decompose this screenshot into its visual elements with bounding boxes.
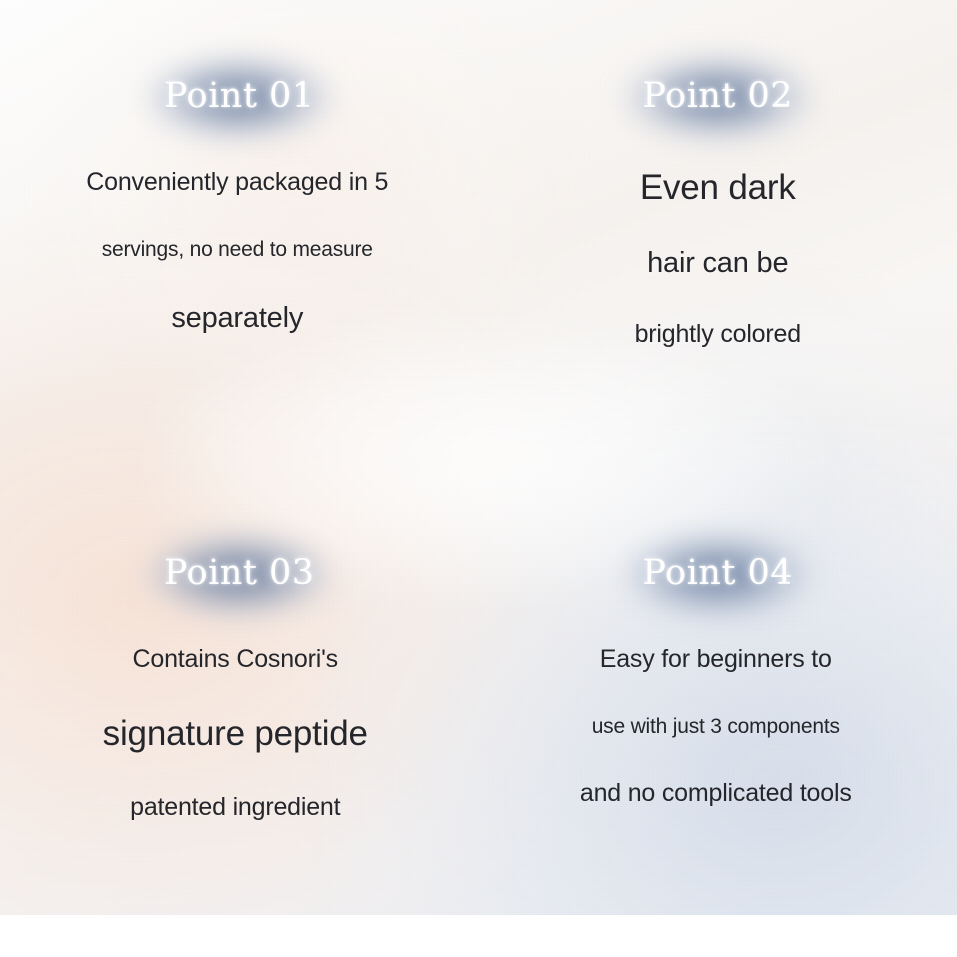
point-line: servings, no need to measure [102,239,373,260]
point-lines-02: Even dark hair can be brightly colored [479,170,957,347]
point-line: Conveniently packaged in 5 [86,170,388,195]
point-badge-label-02: Point 02 [642,76,793,116]
point-line: brightly colored [635,322,801,347]
point-badge-02: Point 02 [596,70,839,126]
point-line: hair can be [647,249,788,278]
point-line: separately [171,304,303,333]
point-badge-label-01: Point 01 [164,76,315,116]
point-badge-04: Point 04 [596,547,839,603]
point-lines-01: Conveniently packaged in 5 servings, no … [0,170,477,333]
point-badge-03: Point 03 [118,547,361,603]
point-block-04: Point 04 Easy for beginners to use with … [479,479,957,957]
point-badge-01: Point 01 [118,70,361,126]
point-line: Contains Cosnori's [133,647,338,672]
point-line: patented ingredient [130,795,340,820]
point-badge-label-03: Point 03 [164,553,315,593]
point-lines-04: Easy for beginners to use with just 3 co… [477,647,956,806]
point-line: signature peptide [103,716,368,751]
point-line: use with just 3 components [592,716,840,737]
points-grid: Point 01 Conveniently packaged in 5 serv… [0,0,957,957]
point-line: Even dark [640,170,796,205]
point-lines-03: Contains Cosnori's signature peptide pat… [0,647,475,820]
point-block-02: Point 02 Even dark hair can be brightly … [479,0,957,479]
infographic-canvas: Point 01 Conveniently packaged in 5 serv… [0,0,957,957]
point-line: and no complicated tools [580,781,852,806]
point-line: Easy for beginners to [600,647,832,672]
point-block-01: Point 01 Conveniently packaged in 5 serv… [0,0,479,479]
point-block-03: Point 03 Contains Cosnori's signature pe… [0,479,479,957]
point-badge-label-04: Point 04 [642,553,793,593]
